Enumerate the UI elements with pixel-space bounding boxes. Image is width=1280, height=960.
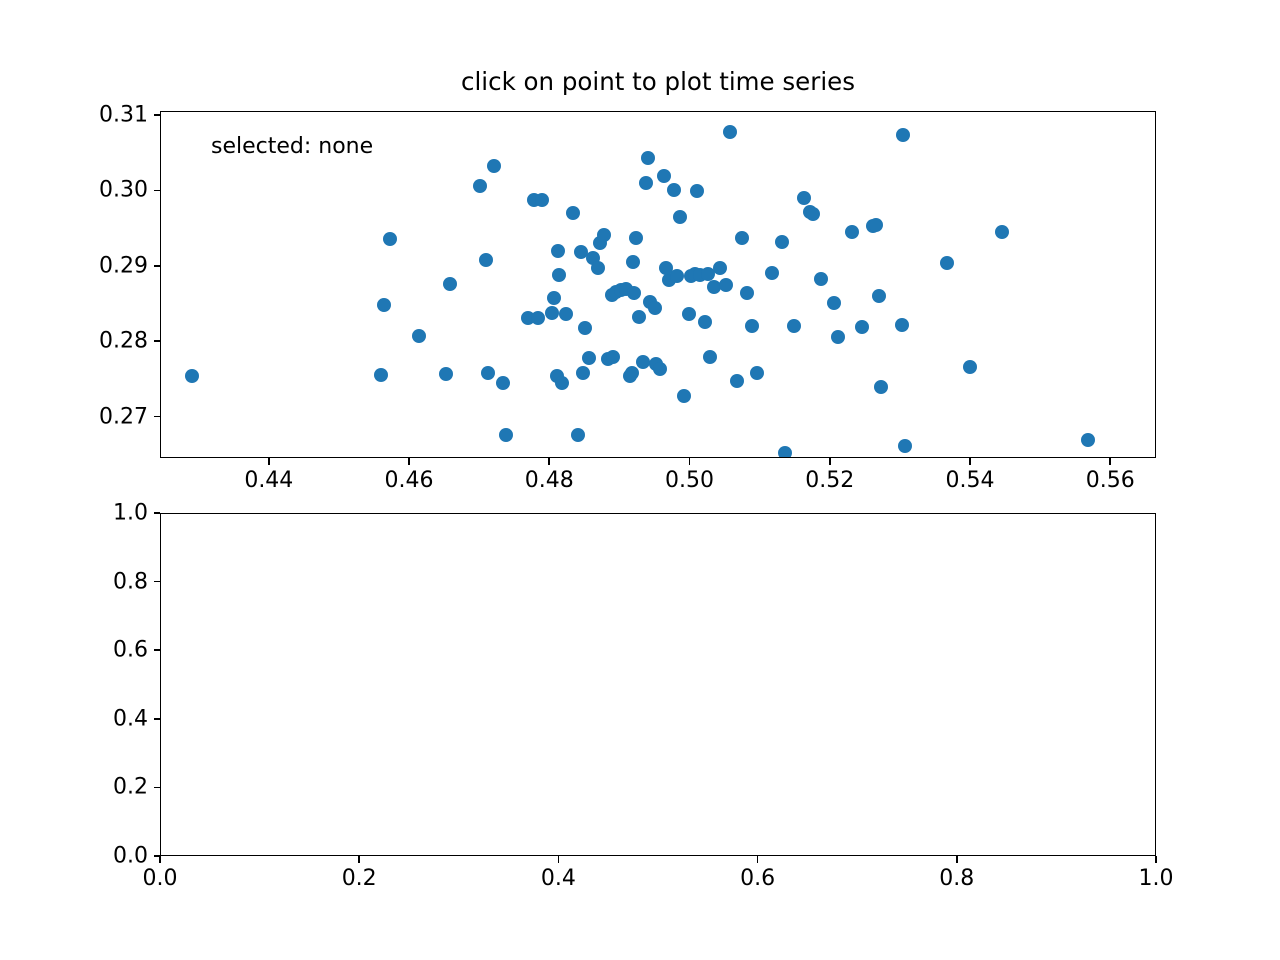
scatter-point[interactable] — [963, 360, 977, 374]
scatter-point[interactable] — [552, 268, 566, 282]
scatter-point[interactable] — [895, 318, 909, 332]
timeseries-plot-axes[interactable] — [160, 513, 1156, 856]
x-axis-tick — [689, 458, 691, 465]
x-axis-tick-label: 0.52 — [805, 468, 854, 493]
x-axis-tick-label: 0.50 — [665, 468, 714, 493]
scatter-point[interactable] — [898, 439, 912, 453]
timeseries-line-layer — [161, 514, 1155, 855]
x-axis-tick — [558, 856, 560, 863]
x-axis-tick-label: 0.56 — [1086, 468, 1135, 493]
scatter-point[interactable] — [627, 286, 641, 300]
x-axis-tick — [159, 856, 161, 863]
x-axis-tick-label: 0.0 — [143, 866, 178, 891]
scatter-point[interactable] — [797, 191, 811, 205]
scatter-point[interactable] — [831, 330, 845, 344]
scatter-point[interactable] — [740, 286, 754, 300]
scatter-point[interactable] — [531, 311, 545, 325]
scatter-point[interactable] — [499, 428, 513, 442]
x-axis-tick — [268, 458, 270, 465]
scatter-point[interactable] — [481, 366, 495, 380]
scatter-point[interactable] — [185, 369, 199, 383]
scatter-point[interactable] — [597, 228, 611, 242]
scatter-point[interactable] — [632, 310, 646, 324]
scatter-point[interactable] — [896, 128, 910, 142]
y-axis-tick — [154, 190, 161, 192]
scatter-point[interactable] — [377, 298, 391, 312]
scatter-point[interactable] — [775, 235, 789, 249]
scatter-point[interactable] — [940, 256, 954, 270]
y-axis-tick — [154, 114, 161, 116]
x-axis-tick-label: 0.54 — [945, 468, 994, 493]
scatter-point[interactable] — [855, 320, 869, 334]
scatter-point[interactable] — [806, 207, 820, 221]
y-axis-tick — [154, 787, 161, 789]
scatter-point[interactable] — [690, 184, 704, 198]
scatter-point[interactable] — [636, 355, 650, 369]
y-axis-tick-label: 0.31 — [99, 102, 148, 127]
scatter-point[interactable] — [479, 253, 493, 267]
scatter-point[interactable] — [667, 183, 681, 197]
page-title: click on point to plot time series — [160, 70, 1156, 95]
scatter-point[interactable] — [787, 319, 801, 333]
y-axis-tick-label: 0.6 — [113, 638, 148, 663]
matplotlib-figure: click on point to plot time series selec… — [0, 0, 1280, 960]
scatter-point[interactable] — [383, 232, 397, 246]
scatter-point[interactable] — [653, 362, 667, 376]
scatter-point[interactable] — [698, 315, 712, 329]
y-axis-tick-label: 0.2 — [113, 775, 148, 800]
x-axis-tick — [548, 458, 550, 465]
scatter-point[interactable] — [869, 218, 883, 232]
x-axis-tick-label: 0.8 — [939, 866, 974, 891]
scatter-point[interactable] — [574, 245, 588, 259]
x-axis-tick — [358, 856, 360, 863]
scatter-point[interactable] — [547, 291, 561, 305]
scatter-point[interactable] — [730, 374, 744, 388]
scatter-point[interactable] — [723, 125, 737, 139]
scatter-point[interactable] — [874, 380, 888, 394]
y-axis-tick-label: 0.8 — [113, 569, 148, 594]
scatter-point[interactable] — [677, 389, 691, 403]
scatter-point[interactable] — [1081, 433, 1095, 447]
x-axis-tick-label: 0.4 — [541, 866, 576, 891]
scatter-point[interactable] — [559, 307, 573, 321]
scatter-point[interactable] — [578, 321, 592, 335]
scatter-point[interactable] — [412, 329, 426, 343]
scatter-point[interactable] — [639, 176, 653, 190]
scatter-point[interactable] — [719, 278, 733, 292]
scatter-point[interactable] — [626, 255, 640, 269]
y-axis-tick — [154, 265, 161, 267]
scatter-point[interactable] — [443, 277, 457, 291]
x-axis-tick — [1155, 856, 1157, 863]
scatter-point[interactable] — [535, 193, 549, 207]
scatter-point[interactable] — [750, 366, 764, 380]
y-axis-tick — [154, 340, 161, 342]
y-axis-tick-label: 0.4 — [113, 706, 148, 731]
scatter-point[interactable] — [713, 261, 727, 275]
scatter-point[interactable] — [745, 319, 759, 333]
x-axis-tick — [1109, 458, 1111, 465]
y-axis-tick — [154, 649, 161, 651]
x-axis-tick-label: 1.0 — [1139, 866, 1174, 891]
scatter-point[interactable] — [374, 368, 388, 382]
x-axis-tick-label: 0.2 — [342, 866, 377, 891]
y-axis-tick-label: 0.30 — [99, 178, 148, 203]
x-axis-tick-label: 0.46 — [385, 468, 434, 493]
scatter-point[interactable] — [735, 231, 749, 245]
y-axis-tick-label: 0.27 — [99, 404, 148, 429]
scatter-point[interactable] — [701, 267, 715, 281]
y-axis-tick — [154, 512, 161, 514]
scatter-point[interactable] — [827, 296, 841, 310]
scatter-point[interactable] — [582, 351, 596, 365]
scatter-point[interactable] — [872, 289, 886, 303]
y-axis-tick — [154, 855, 161, 857]
x-axis-tick — [969, 458, 971, 465]
scatter-point[interactable] — [591, 261, 605, 275]
scatter-point[interactable] — [641, 151, 655, 165]
scatter-plot-axes[interactable]: selected: none — [160, 111, 1156, 458]
x-axis-tick — [757, 856, 759, 863]
scatter-point[interactable] — [625, 366, 639, 380]
x-axis-tick-label: 0.6 — [740, 866, 775, 891]
scatter-point[interactable] — [682, 307, 696, 321]
y-axis-tick-label: 1.0 — [113, 501, 148, 526]
scatter-point[interactable] — [551, 244, 565, 258]
scatter-point[interactable] — [648, 301, 662, 315]
scatter-point[interactable] — [629, 231, 643, 245]
scatter-point[interactable] — [673, 210, 687, 224]
x-axis-tick — [408, 458, 410, 465]
scatter-point[interactable] — [571, 428, 585, 442]
scatter-point-layer[interactable] — [161, 112, 1155, 457]
scatter-point[interactable] — [814, 272, 828, 286]
x-axis-tick — [829, 458, 831, 465]
y-axis-tick — [154, 581, 161, 583]
scatter-point[interactable] — [473, 179, 487, 193]
scatter-point[interactable] — [545, 306, 559, 320]
scatter-point[interactable] — [606, 350, 620, 364]
scatter-point[interactable] — [566, 206, 580, 220]
scatter-point[interactable] — [703, 350, 717, 364]
x-axis-tick-label: 0.44 — [244, 468, 293, 493]
y-axis-tick — [154, 416, 161, 418]
x-axis-tick-label: 0.48 — [525, 468, 574, 493]
scatter-point[interactable] — [487, 159, 501, 173]
scatter-point[interactable] — [496, 376, 510, 390]
scatter-point[interactable] — [439, 367, 453, 381]
scatter-point[interactable] — [995, 225, 1009, 239]
y-axis-tick — [154, 718, 161, 720]
y-axis-tick-label: 0.0 — [113, 844, 148, 869]
scatter-point[interactable] — [555, 376, 569, 390]
y-axis-tick-label: 0.28 — [99, 329, 148, 354]
scatter-point[interactable] — [765, 266, 779, 280]
scatter-point[interactable] — [778, 446, 792, 457]
x-axis-tick — [956, 856, 958, 863]
scatter-point[interactable] — [657, 169, 671, 183]
scatter-point[interactable] — [845, 225, 859, 239]
y-axis-tick-label: 0.29 — [99, 253, 148, 278]
scatter-point[interactable] — [576, 366, 590, 380]
